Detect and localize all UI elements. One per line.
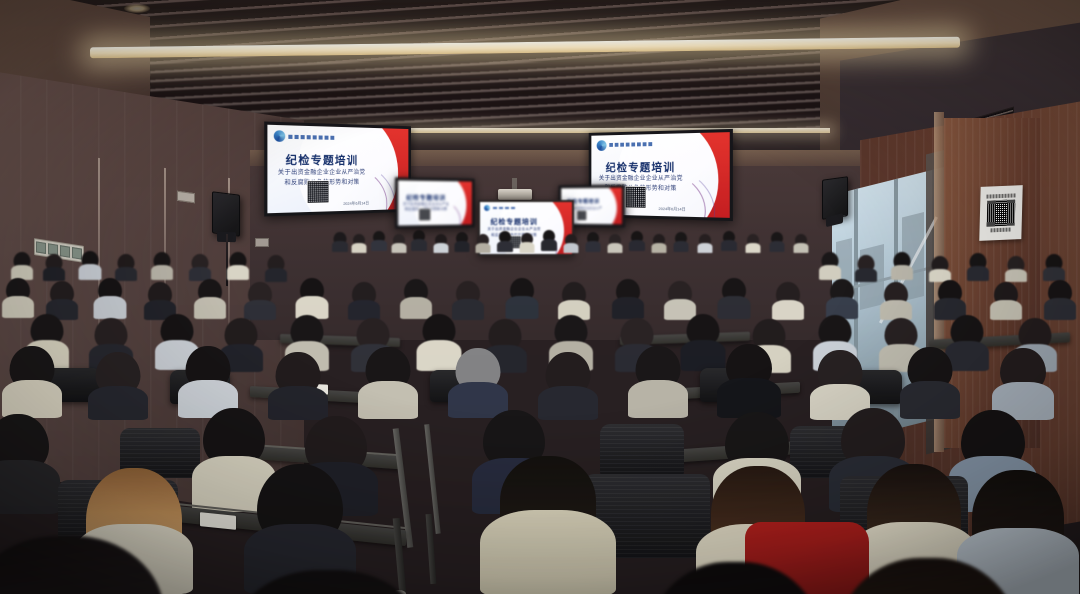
audience [0, 218, 1080, 594]
slide-left-near: 纪检专题培训 关于出资金融企业企业从严治党 和反腐败斗争的形势和对策 2024年… [267, 125, 408, 214]
attendee [332, 232, 347, 252]
slide-date: 2024年6月14日 [343, 200, 369, 207]
slide-title: 纪检专题培训 [277, 151, 367, 168]
logo-mark-icon [274, 130, 285, 142]
attendee [372, 231, 386, 251]
attendee [520, 233, 534, 253]
attendee [892, 252, 912, 280]
attendee [930, 256, 950, 282]
logo-wordmark [288, 134, 334, 139]
attendee [498, 231, 512, 252]
attendee [630, 231, 644, 251]
attendee [246, 282, 274, 320]
logo-mark-icon [484, 205, 490, 211]
attendee [608, 234, 622, 253]
attendee [1006, 256, 1026, 282]
logo-mark-icon [596, 140, 606, 151]
qr-poster-caption [986, 193, 1016, 198]
organization-logo [596, 139, 652, 151]
attendee [1046, 280, 1074, 320]
attendee [362, 347, 414, 419]
attendee [820, 252, 840, 280]
handout-paper [200, 512, 236, 530]
attendee [936, 280, 964, 320]
slide-date: 2024年6月14日 [658, 206, 685, 213]
attendee [228, 570, 428, 594]
photo-scene: 纪检专题培训 关于出资金融企业企业从严治党 和反腐败斗争的形势和对策 2024年… [0, 0, 1080, 594]
attendee [828, 279, 856, 319]
attendee [698, 234, 712, 253]
slide-subtitle-line1: 关于出资金融企业企业从严治党 [598, 175, 684, 184]
attendee [96, 278, 124, 319]
attendee [476, 234, 490, 253]
attendee [392, 234, 406, 253]
logo-wordmark [493, 207, 517, 209]
slide-title: 纪检专题培训 [599, 158, 683, 174]
chair [600, 424, 684, 476]
attendee [1044, 254, 1064, 281]
attendee [640, 562, 830, 594]
attendee [770, 232, 784, 252]
attendee [152, 252, 172, 280]
attendee [455, 232, 469, 252]
attendee [632, 346, 684, 418]
slide-qr-code [625, 185, 647, 208]
attendee [0, 414, 54, 514]
attendee [684, 314, 722, 371]
attendee [196, 279, 224, 319]
attendee [614, 279, 642, 319]
attendee [190, 254, 210, 281]
attendee [828, 558, 1028, 594]
attendee [674, 232, 688, 252]
organization-logo [484, 205, 517, 211]
attendee [882, 282, 910, 320]
attendee [12, 252, 32, 280]
attendee [44, 254, 64, 281]
attendee [564, 234, 578, 253]
attendee [586, 232, 600, 252]
attendee [6, 346, 58, 418]
attendee [542, 230, 556, 251]
logo-wordmark [609, 143, 652, 148]
slide-subtitle-line1: 关于出资金融企业企业从严治党 [275, 169, 368, 179]
attendee-sport-shirt [722, 344, 776, 418]
attendee [454, 281, 482, 320]
attendee-cream-knit [494, 456, 602, 594]
ceiling-projector [498, 189, 532, 200]
attendee [116, 254, 136, 281]
attendee [350, 282, 378, 320]
attendee [856, 255, 876, 282]
attendee [794, 234, 808, 253]
downlight-5 [124, 4, 150, 13]
wall-speaker-right [822, 176, 848, 220]
attendee [80, 251, 100, 280]
attendee [434, 234, 448, 253]
slide-qr-code [307, 181, 330, 205]
attendee [272, 352, 324, 420]
organization-logo [274, 130, 335, 143]
attendee [652, 234, 666, 253]
attendee [298, 278, 326, 319]
wall-screen-left-near[interactable]: 纪检专题培训 关于出资金融企业企业从严治党 和反腐败斗争的形势和对策 2024年… [264, 121, 411, 216]
attendee [746, 234, 760, 253]
attendee [352, 234, 366, 253]
attendee [508, 278, 536, 319]
attendee [968, 253, 988, 281]
attendee [452, 348, 504, 418]
attendee [4, 278, 32, 318]
attendee [412, 230, 426, 251]
attendee [402, 279, 430, 319]
attendee [228, 252, 248, 280]
attendee [992, 282, 1020, 320]
attendee [720, 278, 748, 319]
attendee [774, 282, 802, 320]
attendee [904, 347, 956, 419]
attendee [266, 255, 286, 282]
attendee [722, 231, 736, 251]
attendee [92, 352, 144, 420]
slide-title: 纪检专题培训 [403, 193, 449, 202]
attendee [0, 536, 170, 594]
